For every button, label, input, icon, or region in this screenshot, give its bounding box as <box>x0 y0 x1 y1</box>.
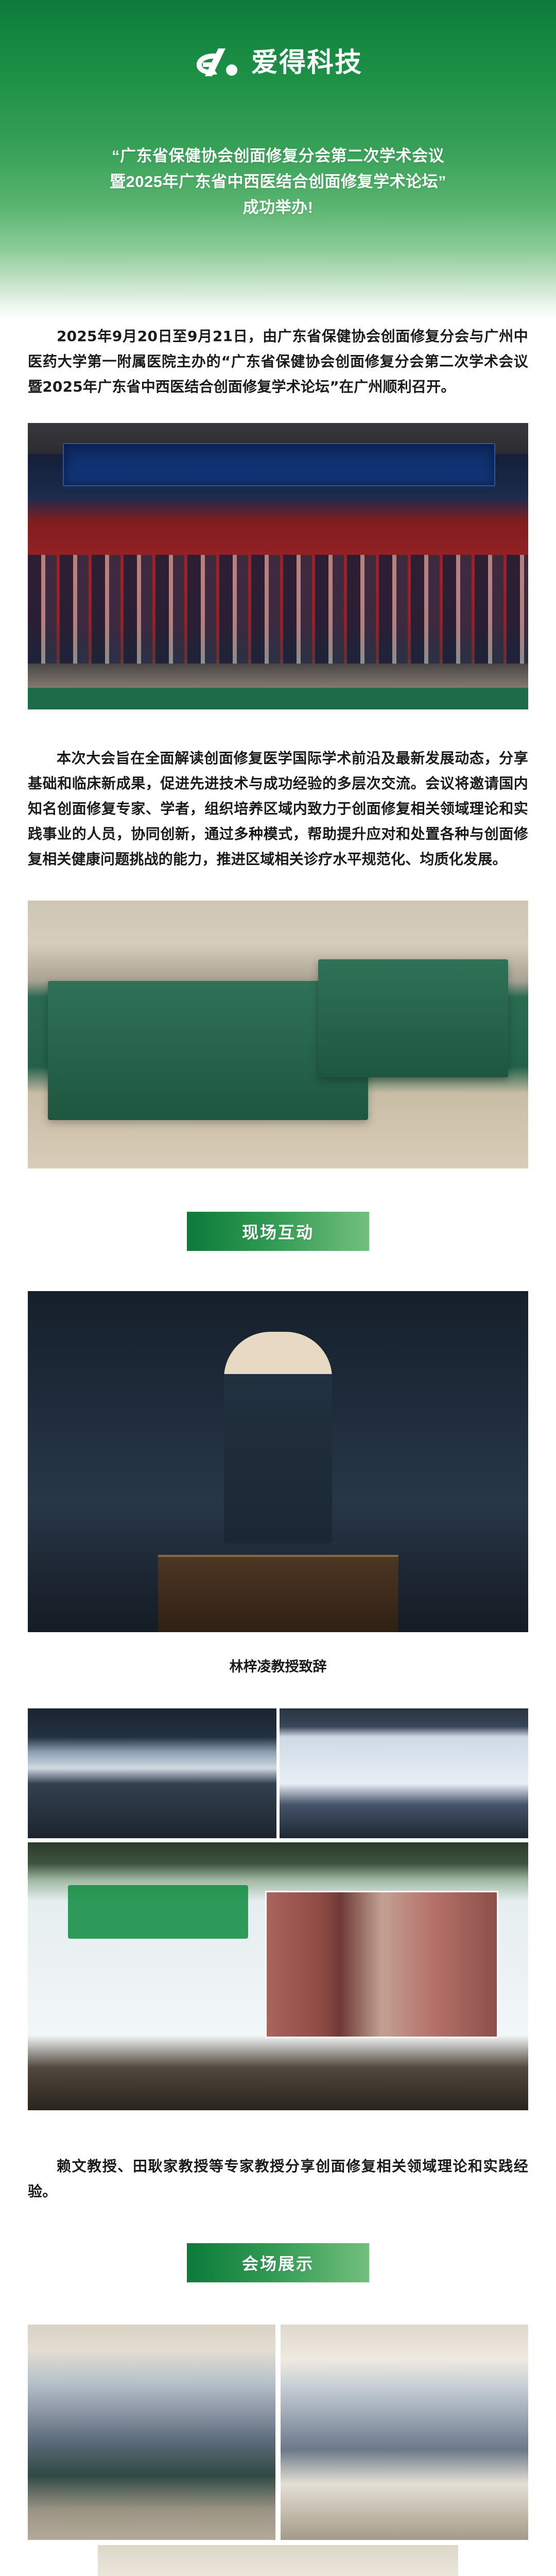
paragraph-intro: 2025年9月20日至9月21日，由广东省保健协会创面修复分会与广州中医药大学第… <box>28 324 528 399</box>
lecture-photo-pair <box>28 1708 528 1838</box>
exhibit-booth-left-photo <box>28 2325 275 2540</box>
exhibit-booth-right-photo <box>281 2325 528 2540</box>
article-page: 爱得科技 “广东省保健协会创面修复分会第二次学术会议 暨2025年广东省中西医结… <box>0 0 556 2576</box>
aide-swoosh-logo-icon <box>194 47 243 78</box>
conference-group-photo <box>28 423 528 709</box>
brand-logo[interactable]: 爱得科技 <box>0 47 556 78</box>
page-title-line-1: “广东省保健协会创面修复分会第二次学术会议 <box>21 143 535 169</box>
clinical-case-projection-photo <box>28 1842 528 2110</box>
audience-seated-tables-photo <box>28 901 528 1168</box>
section-badge-interaction: 现场互动 <box>187 1212 369 1251</box>
section-venue: 会场展示 <box>28 2243 528 2282</box>
exhibit-booth-wide-photo <box>98 2545 458 2576</box>
caption-speaker: 林梓凌教授致辞 <box>28 1656 528 1679</box>
page-title: “广东省保健协会创面修复分会第二次学术会议 暨2025年广东省中西医结合创面修复… <box>0 143 556 221</box>
page-title-line-3: 成功举办! <box>21 195 535 221</box>
paragraph-purpose: 本次大会旨在全面解读创面修复医学国际学术前沿及最新发展动态，分享基础和临床新成果… <box>28 745 528 872</box>
professor-lin-speech-photo <box>28 1291 528 1632</box>
paragraph-experts: 赖文教授、田耿家教授等专家教授分享创面修复相关领域理论和实践经验。 <box>28 2154 528 2204</box>
brand-name: 爱得科技 <box>251 49 362 76</box>
presentation-slide-photo <box>280 1708 528 1838</box>
page-header: 爱得科技 “广东省保健协会创面修复分会第二次学术会议 暨2025年广东省中西医结… <box>0 0 556 319</box>
section-interaction: 现场互动 <box>28 1212 528 1251</box>
exhibit-photo-row <box>28 2325 528 2540</box>
section-badge-venue: 会场展示 <box>187 2243 369 2282</box>
lecture-hall-photo <box>28 1708 276 1838</box>
exhibit-photo-grid <box>28 2325 528 2576</box>
article-body: 2025年9月20日至9月21日，由广东省保健协会创面修复分会与广州中医药大学第… <box>0 319 556 2576</box>
page-title-line-2: 暨2025年广东省中西医结合创面修复学术论坛” <box>21 169 535 195</box>
